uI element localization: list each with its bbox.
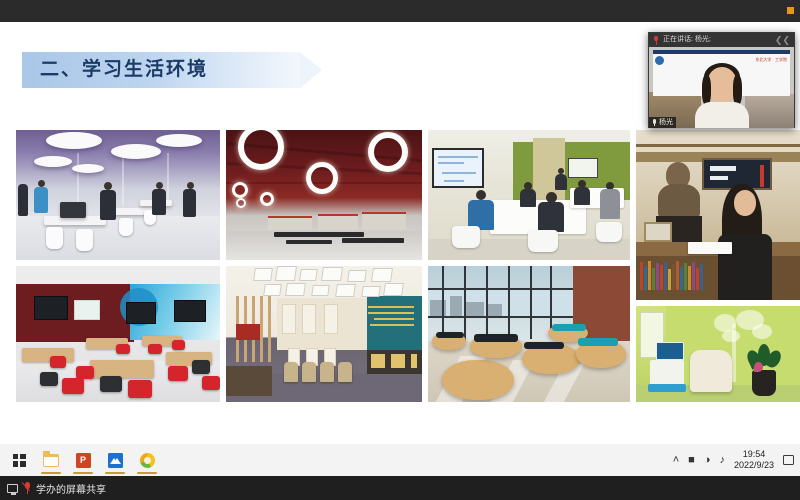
- speaker-name-badge: 杨光: [649, 117, 676, 128]
- double-chevron-left-icon[interactable]: ❮❮: [775, 35, 790, 45]
- interactive-whiteboard: [432, 148, 484, 188]
- ring-light: [232, 182, 248, 198]
- mic-muted-icon: [653, 36, 659, 45]
- city-building: [430, 300, 446, 316]
- lab-chair: [76, 229, 93, 251]
- red-chair: [128, 380, 152, 398]
- equipment-monitor: [656, 342, 684, 360]
- city-building: [488, 304, 502, 316]
- waiting-chair: [302, 362, 316, 382]
- lab-person: [34, 187, 48, 213]
- banner-arrow-tip: [300, 52, 322, 88]
- video-panel-header[interactable]: 正在讲话: 杨光; ❮❮: [649, 33, 794, 47]
- lab-chair: [46, 227, 63, 249]
- seat-cushion: [578, 338, 618, 346]
- speaker-body: [695, 102, 749, 128]
- red-chair: [116, 344, 130, 354]
- powerpoint-button[interactable]: P: [68, 445, 98, 475]
- culture-room-image: [226, 266, 422, 402]
- lab-ceiling-lamp: [72, 164, 104, 173]
- lab-person-head: [38, 180, 45, 187]
- clock-time: 19:54: [743, 449, 766, 459]
- window-mullion: [550, 266, 552, 334]
- ceiling-panel: [335, 284, 356, 297]
- red-chair: [62, 378, 84, 394]
- page-title: 二、学习生活环境: [40, 57, 208, 83]
- student: [574, 187, 590, 205]
- waiting-chair: [320, 362, 334, 382]
- serving-counter: [362, 212, 406, 230]
- student: [555, 174, 567, 190]
- panel-accent: [760, 165, 764, 187]
- serving-counter: [318, 214, 358, 230]
- chair-dark: [192, 360, 210, 374]
- lab-wall-line: [122, 153, 124, 205]
- mic-icon: [652, 119, 657, 126]
- window-transom: [428, 316, 573, 318]
- wall-slogan-line: [370, 324, 414, 326]
- dining-table: [286, 240, 332, 244]
- equipment-cart: [650, 360, 684, 386]
- lab-ceiling-lamp: [156, 134, 202, 147]
- teal-wall: [367, 296, 422, 350]
- lab-ceiling-lamp: [111, 144, 161, 159]
- window-transom: [428, 288, 573, 290]
- ring-light: [368, 132, 408, 172]
- city-building: [466, 302, 484, 316]
- browser-icon: [140, 453, 155, 468]
- clock-date: 2022/9/23: [734, 460, 774, 470]
- photo-library-lounge: [428, 266, 630, 402]
- seat-cushion: [474, 334, 518, 342]
- chair-dark: [100, 376, 122, 392]
- seat-cushion: [436, 332, 464, 338]
- waiting-chair: [338, 362, 352, 382]
- start-button[interactable]: [4, 445, 34, 475]
- windows-icon: [13, 454, 26, 467]
- open-book: [688, 242, 732, 254]
- recording-indicator-dot: [787, 7, 794, 14]
- wall-tv: [174, 300, 206, 322]
- chair-dark: [40, 372, 58, 386]
- speaker-hair-sides: [702, 75, 742, 105]
- screen-content-line: [438, 156, 478, 158]
- serving-counter: [268, 216, 312, 230]
- chevron-up-icon[interactable]: ˄: [673, 455, 679, 466]
- seminar-room-image: [428, 130, 630, 260]
- screen-share-bar[interactable]: 学办的屏幕共享: [0, 476, 800, 500]
- plant-vase: [752, 370, 776, 396]
- lab-person-head: [104, 182, 112, 190]
- wall-monitor: [568, 158, 598, 178]
- window-top-bar: [0, 0, 800, 22]
- wifi-icon[interactable]: ◑: [704, 455, 711, 466]
- student: [538, 202, 564, 232]
- library-bust-image: [636, 130, 800, 300]
- panel-text: [710, 176, 728, 180]
- red-chair: [172, 340, 185, 350]
- student-head: [476, 190, 486, 200]
- browser-button[interactable]: [132, 445, 162, 475]
- wall-slogan-line: [374, 318, 414, 320]
- lab-chair: [119, 218, 133, 236]
- wood-slat: [260, 296, 263, 362]
- lounge-pod: [442, 360, 514, 400]
- balcony-rail: [636, 144, 800, 147]
- tree-mural-foliage: [722, 330, 740, 342]
- lab-wall-line: [167, 153, 169, 205]
- notification-icon[interactable]: [783, 455, 794, 465]
- seat-cushion: [552, 324, 586, 331]
- dining-table: [274, 232, 364, 237]
- reception-desk: [226, 366, 272, 396]
- lab-person: [183, 189, 196, 217]
- calligraphy-scroll: [282, 304, 296, 334]
- photo-dining-hall: [226, 130, 422, 260]
- dining-hall-image: [226, 130, 422, 260]
- cart-base: [648, 384, 686, 392]
- ceiling-panel: [321, 267, 343, 281]
- lab-person-head: [187, 182, 194, 189]
- monitor-icon: [7, 484, 18, 493]
- city-building: [450, 296, 462, 316]
- counselling-room-image: [636, 306, 800, 402]
- photo-frame: [644, 222, 672, 242]
- powerpoint-icon: P: [76, 453, 91, 468]
- photo-seminar-room: [428, 130, 630, 260]
- mic-off-icon[interactable]: [23, 482, 31, 494]
- windows-taskbar[interactable]: P ˄ ■ ◑ ♪ 19:54 2022/9/23: [0, 444, 800, 476]
- bust-shoulders: [658, 184, 700, 218]
- lab-ceiling-lamp: [46, 132, 102, 149]
- relaxation-chair: [690, 350, 732, 392]
- window-mullion: [530, 266, 532, 339]
- volume-icon[interactable]: ♪: [719, 455, 725, 466]
- photo-smart-classroom: [16, 266, 220, 402]
- dining-table: [342, 238, 404, 243]
- taskbar-apps: P: [0, 445, 162, 475]
- calligraphy-scroll: [302, 304, 316, 334]
- screen-content-line: [438, 162, 464, 164]
- video-feed[interactable]: 东北大学 · 工学院 工 学院 2022 家长会 杨光: [649, 47, 794, 128]
- seat-cushion: [524, 342, 564, 349]
- battery-icon[interactable]: ■: [688, 455, 695, 466]
- student-table: [22, 348, 74, 362]
- wall-tv: [34, 296, 68, 320]
- red-chair: [202, 376, 220, 390]
- seminar-chair: [528, 230, 558, 252]
- red-emblem: [236, 324, 260, 340]
- wall-tv: [126, 302, 156, 324]
- student: [520, 189, 536, 207]
- speaker-name: 杨光: [659, 117, 673, 128]
- slide-logo-icon: [655, 56, 664, 65]
- ring-light: [260, 192, 274, 206]
- student-table: [90, 360, 154, 378]
- folder-icon: [43, 454, 59, 467]
- lab-person-head: [156, 182, 163, 189]
- ceiling-panel: [285, 283, 306, 296]
- screen: 二、学习生活环境 东北 School of B: [0, 0, 800, 500]
- display-cabinet: [367, 350, 422, 374]
- room-background-right: [745, 94, 794, 128]
- lab-person: [100, 190, 116, 220]
- red-chair: [50, 356, 66, 368]
- panel-text: [710, 166, 736, 171]
- photo-culture-room: [226, 266, 422, 402]
- ceiling-panel: [253, 268, 273, 281]
- photo-vr-lab: [16, 130, 220, 260]
- ceiling-panel: [347, 270, 367, 282]
- video-panel[interactable]: 正在讲话: 杨光; ❮❮ 东北大学 · 工学院 工 学院 2022 家长会 杨光: [648, 32, 795, 128]
- ceiling-panel: [311, 285, 330, 296]
- whiteboard: [74, 300, 100, 320]
- smart-classroom-image: [16, 266, 220, 402]
- share-status-text: 学办的屏幕共享: [36, 481, 106, 496]
- library-lounge-image: [428, 266, 630, 402]
- ceiling-panel: [299, 269, 318, 281]
- meeting-app-button[interactable]: [100, 445, 130, 475]
- calligraphy-scroll: [324, 304, 338, 334]
- ceiling-panel: [275, 266, 297, 281]
- waiting-chair: [284, 362, 298, 382]
- plant-flower: [754, 362, 763, 372]
- seminar-chair: [596, 222, 622, 242]
- woman-face: [734, 190, 756, 216]
- ceiling-panel: [263, 284, 282, 296]
- vr-lab-image: [16, 130, 220, 260]
- system-tray: ˄ ■ ◑ ♪ 19:54 2022/9/23: [673, 449, 800, 471]
- red-chair: [168, 366, 188, 381]
- books-row: [640, 260, 703, 290]
- red-chair: [148, 344, 162, 354]
- lab-ceiling-lamp: [34, 156, 72, 167]
- active-speaker-label: 正在讲话: 杨光;: [663, 33, 711, 47]
- ceiling-panel: [371, 268, 393, 282]
- ceiling-panel: [361, 286, 381, 297]
- lab-wall-line: [77, 153, 79, 205]
- wall-slogan-line: [368, 312, 414, 314]
- lab-person: [18, 184, 28, 216]
- ring-light: [306, 162, 338, 194]
- lab-equipment: [60, 202, 86, 218]
- slide-title-banner: 二、学习生活环境: [22, 52, 322, 88]
- screen-content-line: [444, 180, 464, 182]
- lab-person: [152, 189, 166, 215]
- meeting-icon: [108, 453, 123, 468]
- wood-slat: [268, 296, 271, 362]
- seminar-chair: [452, 226, 480, 248]
- student: [600, 189, 620, 219]
- wall-slogan-line: [368, 306, 414, 308]
- slide-mark-text: 东北大学 · 工学院: [755, 57, 787, 63]
- screen-content-line: [442, 172, 476, 174]
- ring-light: [236, 198, 246, 208]
- tree-mural-foliage: [752, 324, 772, 339]
- file-explorer-button[interactable]: [36, 445, 66, 475]
- photo-library-bust: [636, 130, 800, 300]
- ceiling-panel: [383, 283, 404, 296]
- clock[interactable]: 19:54 2022/9/23: [734, 449, 774, 471]
- photo-counselling-room: [636, 306, 800, 402]
